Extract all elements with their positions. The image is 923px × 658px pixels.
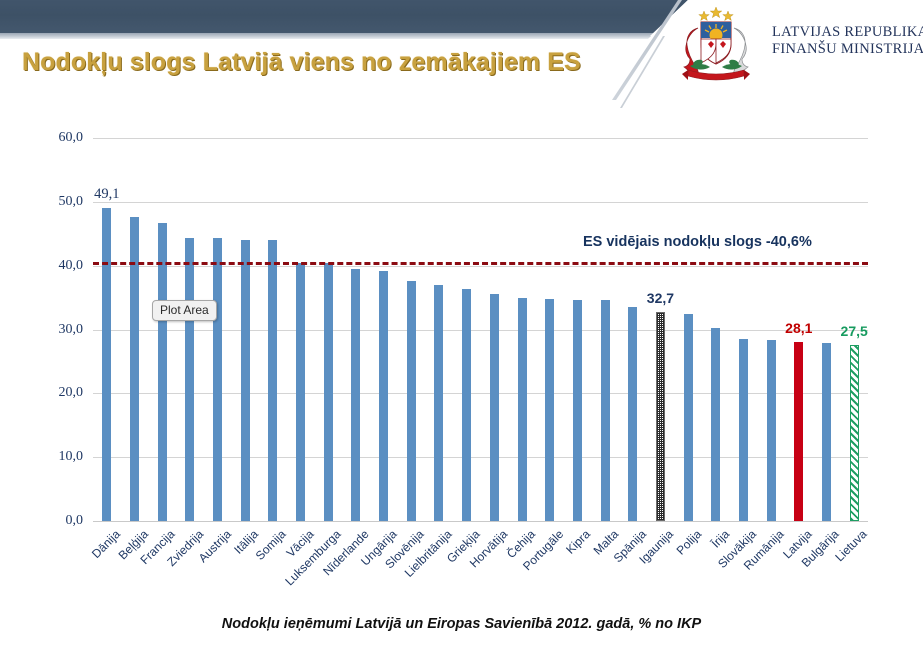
x-axis-label-dnija: Dānija [89,527,123,561]
bar-slovkija[interactable] [739,339,748,521]
bar-lietuva[interactable] [850,345,859,521]
bar-malta[interactable] [601,300,610,522]
y-axis-tick-label: 30,0 [59,322,84,338]
bar-austrija[interactable] [213,238,222,521]
ministry-logo-line2: FINANŠU MINISTRIJA [772,41,923,58]
ministry-logo-text: LATVIJAS REPUBLIKAS FINANŠU MINISTRIJA [772,24,923,58]
bar-spnija[interactable] [628,307,637,521]
x-axis-label-somija: Somija [253,527,289,563]
bar-francija[interactable] [158,223,167,521]
y-axis-tick-label: 10,0 [59,449,84,465]
latvia-coat-of-arms-icon [668,6,764,84]
y-axis-tick-label: 50,0 [59,194,84,210]
page-title: Nodokļu slogs Latvijā viens no zemākajie… [22,48,581,77]
bar-horvtija[interactable] [490,294,499,521]
x-axis-label-polija: Polija [674,527,705,558]
data-label-dnija: 49,1 [94,186,119,203]
x-axis-label-kipra: Kipra [564,527,594,557]
bar-bulgrija[interactable] [822,343,831,521]
plot-area-tooltip: Plot Area [152,300,217,321]
bar-vcija[interactable] [296,263,305,521]
eu-average-label: ES vidējais nodokļu slogs -40,6% [583,234,812,250]
bar-rumnija[interactable] [767,340,776,521]
bar-nderlande[interactable] [351,269,360,521]
ministry-logo: LATVIJAS REPUBLIKAS FINANŠU MINISTRIJA [668,6,918,86]
y-axis-tick-label: 0,0 [66,513,84,529]
plot-area[interactable]: 0,010,020,030,040,050,060,0 ES vidējais … [93,138,868,521]
bar-slovnija[interactable] [407,281,416,521]
bar-luksemburga[interactable] [324,263,333,521]
bar-dnija[interactable] [102,208,111,521]
bar-lielbritnija[interactable] [434,285,443,521]
bar-latvija[interactable] [794,342,803,521]
slide-root: Nodokļu slogs Latvijā viens no zemākajie… [0,0,923,658]
y-axis-tick-label: 60,0 [59,130,84,146]
bar-igaunija[interactable] [656,312,665,521]
bar-rija[interactable] [711,328,720,521]
data-label-latvija: 28,1 [785,320,812,336]
eu-average-line [93,262,868,265]
data-label-lietuva: 27,5 [841,323,868,339]
x-axis-labels: DānijaBeļģijaFrancijaZviedrijaAustrijaIt… [93,521,883,621]
bar-ungrija[interactable] [379,271,388,521]
bar-ehija[interactable] [518,298,527,521]
bar-grieija[interactable] [462,289,471,521]
banner-dark-angled [0,0,688,34]
bar-zviedrija[interactable] [185,238,194,521]
header-banner: Nodokļu slogs Latvijā viens no zemākajie… [0,0,923,112]
bar-series [93,138,868,521]
data-label-igaunija: 32,7 [647,290,674,306]
bar-itlija[interactable] [241,240,250,521]
y-axis-tick-label: 40,0 [59,258,84,274]
ministry-logo-line1: LATVIJAS REPUBLIKAS [772,24,923,41]
bar-portugle[interactable] [545,299,554,521]
y-axis-tick-label: 20,0 [59,385,84,401]
bar-polija[interactable] [684,314,693,521]
chart: 0,010,020,030,040,050,060,0 ES vidējais … [0,112,923,658]
chart-caption: Nodokļu ieņēmumi Latvijā un Eiropas Savi… [0,616,923,632]
bar-somija[interactable] [268,240,277,521]
bar-kipra[interactable] [573,300,582,522]
